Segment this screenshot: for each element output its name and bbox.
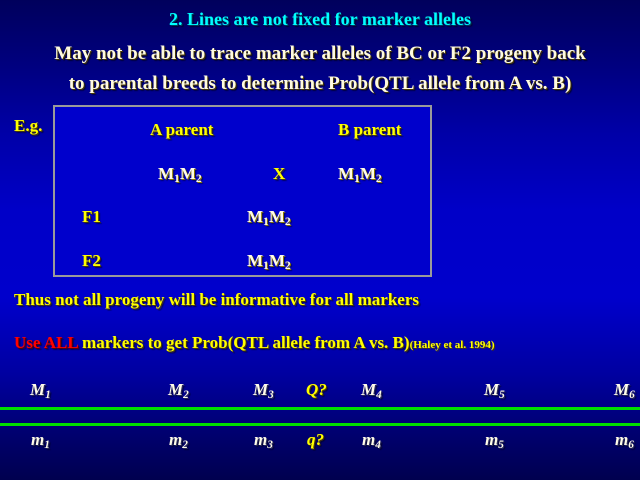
marker-subscript: 5 xyxy=(499,389,505,401)
marker-m4: m4 xyxy=(362,431,381,448)
genotype-allele-1: M xyxy=(338,164,354,183)
conclusion-line: Thus not all progeny will be informative… xyxy=(14,291,419,308)
marker-m2: m2 xyxy=(169,431,188,448)
marker-symbol: M xyxy=(30,380,45,399)
marker-subscript: 3 xyxy=(267,439,273,451)
genotype-sub-2: 2 xyxy=(376,172,382,185)
marker-symbol: q? xyxy=(307,430,324,449)
marker-symbol: m xyxy=(31,430,44,449)
f2-genotype: M1M2 xyxy=(247,252,291,269)
use-all-markers-line: Use ALL markers to get Prob(QTL allele f… xyxy=(14,334,495,351)
genotype-sub-1: 1 xyxy=(354,172,360,185)
marker-M6: M6 xyxy=(614,381,635,398)
marker-m5: m5 xyxy=(485,431,504,448)
marker-subscript: 6 xyxy=(628,439,634,451)
marker-M1: M1 xyxy=(30,381,51,398)
marker-subscript: 2 xyxy=(182,439,188,451)
marker-M3: M3 xyxy=(253,381,274,398)
marker-symbol: M xyxy=(253,380,268,399)
marker-symbol: m xyxy=(485,430,498,449)
genotype-sub-1: 1 xyxy=(263,215,269,228)
cross-symbol: X xyxy=(273,165,285,182)
chromosome-marker-diagram: M1M2M3Q?M4M5M6 m1m2m3q?m4m5m6 xyxy=(0,375,640,465)
genotype-allele-2: M xyxy=(269,207,285,226)
marker-subscript: 1 xyxy=(44,439,50,451)
marker-subscript: 5 xyxy=(498,439,504,451)
genotype-sub-2: 2 xyxy=(196,172,202,185)
cross-diagram-box: A parent B parent M1M2 X M1M2 F1 M1M2 F2… xyxy=(53,105,432,277)
genotype-allele-2: M xyxy=(269,251,285,270)
marker-M2: M2 xyxy=(168,381,189,398)
genotype-sub-1: 1 xyxy=(263,259,269,272)
chromosome-line-maternal xyxy=(0,423,640,426)
parent-a-genotype: M1M2 xyxy=(158,165,202,182)
marker-subscript: 1 xyxy=(45,389,51,401)
marker-m6: m6 xyxy=(615,431,634,448)
genotype-allele-2: M xyxy=(360,164,376,183)
marker-symbol: m xyxy=(169,430,182,449)
marker-m3: m3 xyxy=(254,431,273,448)
use-all-emphasis: Use ALL xyxy=(14,333,78,352)
marker-subscript: 4 xyxy=(376,389,382,401)
marker-m1: m1 xyxy=(31,431,50,448)
slide-canvas: 2. Lines are not fixed for marker allele… xyxy=(0,0,640,480)
use-all-remainder: markers to get Prob(QTL allele from A vs… xyxy=(78,333,410,352)
genotype-allele-1: M xyxy=(247,251,263,270)
qtl-Q: Q? xyxy=(306,381,327,398)
marker-symbol: M xyxy=(484,380,499,399)
citation-reference: (Haley et al. 1994) xyxy=(410,339,495,351)
marker-subscript: 2 xyxy=(183,389,189,401)
genotype-allele-2: M xyxy=(180,164,196,183)
marker-symbol: m xyxy=(254,430,267,449)
marker-symbol: M xyxy=(168,380,183,399)
parent-b-genotype: M1M2 xyxy=(338,165,382,182)
marker-symbol: M xyxy=(361,380,376,399)
marker-subscript: 3 xyxy=(268,389,274,401)
slide-title: 2. Lines are not fixed for marker allele… xyxy=(0,10,640,28)
qtl-q: q? xyxy=(307,431,324,448)
parent-b-label: B parent xyxy=(338,121,401,138)
parent-a-label: A parent xyxy=(150,121,213,138)
headline-line-1: May not be able to trace marker alleles … xyxy=(0,44,640,63)
marker-symbol: m xyxy=(615,430,628,449)
marker-M5: M5 xyxy=(484,381,505,398)
genotype-allele-1: M xyxy=(158,164,174,183)
genotype-sub-2: 2 xyxy=(285,259,291,272)
genotype-sub-1: 1 xyxy=(174,172,180,185)
marker-M4: M4 xyxy=(361,381,382,398)
marker-symbol: Q? xyxy=(306,380,327,399)
f1-genotype: M1M2 xyxy=(247,208,291,225)
marker-subscript: 6 xyxy=(629,389,635,401)
genotype-sub-2: 2 xyxy=(285,215,291,228)
marker-symbol: m xyxy=(362,430,375,449)
marker-subscript: 4 xyxy=(375,439,381,451)
chromosome-line-paternal xyxy=(0,407,640,410)
f2-label: F2 xyxy=(82,252,101,269)
headline-line-2: to parental breeds to determine Prob(QTL… xyxy=(0,74,640,93)
genotype-allele-1: M xyxy=(247,207,263,226)
marker-symbol: M xyxy=(614,380,629,399)
f1-label: F1 xyxy=(82,208,101,225)
example-label: E.g. xyxy=(14,117,42,134)
